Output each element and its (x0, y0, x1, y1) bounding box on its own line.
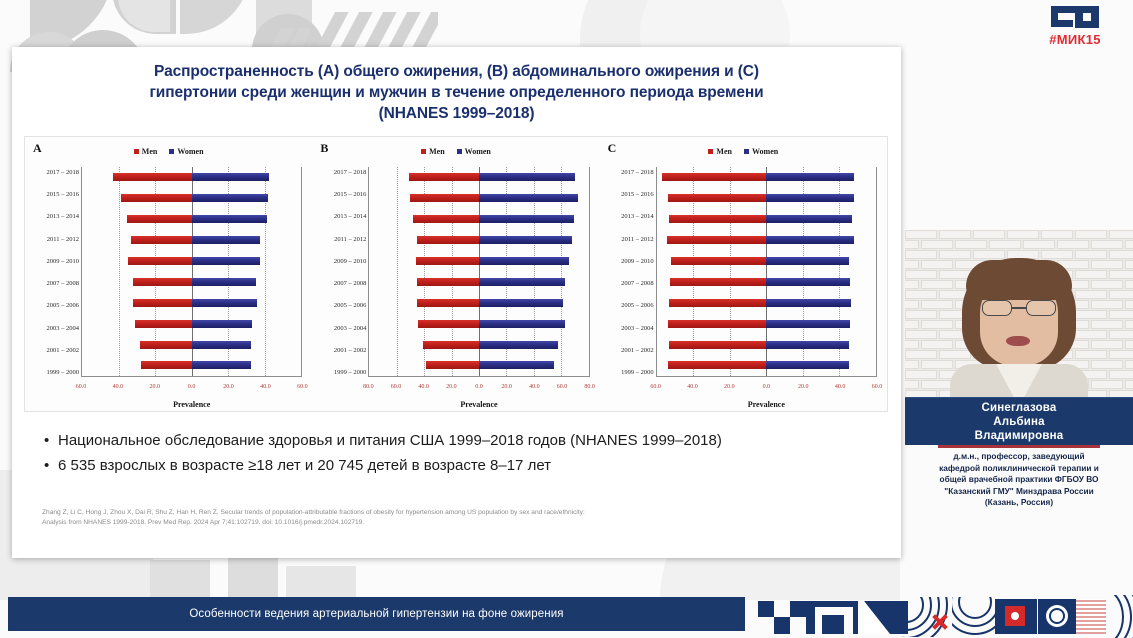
bar-women (192, 320, 252, 328)
category-label: 1999 – 2000 (314, 369, 366, 377)
bar-women (479, 257, 569, 265)
table-row (657, 256, 876, 266)
legend-label-women: Women (752, 147, 778, 156)
bar-men (662, 173, 766, 181)
conference-logo: #МИК15 (1029, 4, 1121, 50)
x-tick-label: 0.0 (188, 384, 196, 390)
bar-men (133, 278, 191, 286)
bar-men (418, 320, 479, 328)
table-row (369, 172, 588, 182)
mik-logo-mark (1049, 4, 1101, 30)
brick (905, 290, 937, 299)
brick (1041, 230, 1073, 239)
brick (905, 370, 937, 379)
brick (905, 300, 919, 309)
x-tick-label: 20.0 (501, 384, 512, 390)
x-tick-label: 60.0 (557, 384, 568, 390)
table-row (657, 214, 876, 224)
speaker-figure (944, 248, 1094, 398)
bar-men (671, 257, 766, 265)
table-row (82, 172, 301, 182)
chart-panel-c: C Men Women 2017 – 20182015 – 20162013 –… (600, 137, 887, 411)
x-tick-label: 40.0 (260, 384, 271, 390)
slide-title-line-2: гипертонии среди женщин и мужчин в течен… (50, 82, 863, 103)
brick (905, 280, 919, 289)
x-tick-label: 20.0 (798, 384, 809, 390)
table-row (369, 256, 588, 266)
bar-women (192, 299, 257, 307)
legend-swatch-men (708, 149, 713, 154)
x-tick-label: 60.0 (872, 384, 883, 390)
table-row (82, 193, 301, 203)
category-label: 2017 – 2018 (602, 169, 654, 177)
brick (1109, 290, 1133, 299)
category-label: 2011 – 2012 (602, 236, 654, 244)
category-label: 2017 – 2018 (314, 169, 366, 177)
brick (1091, 340, 1123, 349)
x-tick-label: 40.0 (529, 384, 540, 390)
bar-men (669, 215, 766, 223)
table-row (82, 277, 301, 287)
bar-women (766, 361, 849, 369)
x-tick-label: 60.0 (650, 384, 661, 390)
brick (905, 330, 937, 339)
table-row (369, 235, 588, 245)
bar-women (192, 341, 251, 349)
credentials-line-3: общей врачебной практики ФГБОУ ВО (913, 474, 1125, 486)
figure-prevalence-charts: A Men Women 2017 – 20182015 – 20162013 –… (24, 136, 888, 412)
bar-men (140, 341, 192, 349)
table-row (369, 214, 588, 224)
chart-c-xticks: 60.040.020.00.020.040.060.0 (656, 384, 877, 394)
bar-women (766, 299, 851, 307)
bar-women (766, 236, 854, 244)
bar-men (669, 299, 767, 307)
bar-men (141, 361, 191, 369)
x-tick-label: 20.0 (150, 384, 161, 390)
legend-label-men: Men (429, 147, 445, 156)
table-row (82, 235, 301, 245)
legend-swatch-men (421, 149, 426, 154)
table-row (657, 277, 876, 287)
bar-women (766, 257, 849, 265)
brick (1109, 350, 1133, 359)
bar-women (479, 341, 558, 349)
bar-men (128, 257, 192, 265)
category-label: 2011 – 2012 (314, 236, 366, 244)
brick (1091, 240, 1123, 249)
category-label: 2003 – 2004 (314, 325, 366, 333)
chart-panel-a: A Men Women 2017 – 20182015 – 20162013 –… (25, 137, 312, 411)
bar-women (479, 215, 574, 223)
bar-men (668, 194, 767, 202)
brick (1075, 230, 1107, 239)
brick (905, 350, 937, 359)
category-label: 2013 – 2014 (27, 213, 79, 221)
brick (1091, 360, 1123, 369)
bottom-banner: Особенности ведения артериальной гиперте… (8, 597, 745, 631)
credentials-line-5: (Казань, Россия) (913, 497, 1125, 509)
bar-women (479, 194, 578, 202)
category-label: 2011 – 2012 (27, 236, 79, 244)
category-label: 2009 – 2010 (602, 258, 654, 266)
bar-women (766, 173, 854, 181)
slide-citation: Zhang Z, Li C, Hong J, Zhou X, Dai R, Sh… (42, 508, 877, 528)
brick (1007, 230, 1039, 239)
brick (1125, 300, 1133, 309)
bar-women (479, 173, 575, 181)
speaker-name-line-2: Альбина (993, 415, 1045, 429)
bar-women (766, 194, 854, 202)
table-row (657, 172, 876, 182)
banner-text: Особенности ведения артериальной гиперте… (189, 608, 563, 620)
table-row (82, 360, 301, 370)
category-label: 2009 – 2010 (314, 258, 366, 266)
category-label: 2001 – 2002 (314, 347, 366, 355)
brick (1109, 310, 1133, 319)
chart-c-xlabel: Prevalence (656, 400, 877, 409)
legend-swatch-women (457, 149, 462, 154)
category-label: 2005 – 2006 (314, 302, 366, 310)
bar-women (479, 361, 554, 369)
speaker-name-line-3: Владимировна (975, 429, 1064, 443)
bar-men (409, 173, 479, 181)
x-tick-label: 40.0 (113, 384, 124, 390)
bar-men (417, 278, 479, 286)
x-tick-label: 0.0 (763, 384, 771, 390)
brick (939, 230, 971, 239)
table-row (369, 193, 588, 203)
x-tick-label: 40.0 (687, 384, 698, 390)
bar-women (192, 278, 256, 286)
speaker-nameplate: Синеглазова Альбина Владимировна (905, 397, 1133, 445)
category-label: 2009 – 2010 (27, 258, 79, 266)
bar-men (113, 173, 192, 181)
bar-women (479, 299, 563, 307)
x-tick-label: 80.0 (584, 384, 595, 390)
legend-label-men: Men (716, 147, 732, 156)
brick (905, 230, 937, 239)
bar-women (479, 320, 565, 328)
category-label: 2001 – 2002 (602, 347, 654, 355)
bar-men (416, 257, 479, 265)
citation-line-2: Analysis from NHANES 1999-2018. Prev Med… (42, 518, 877, 528)
table-row (657, 298, 876, 308)
chart-b-axes (368, 167, 589, 377)
bar-men (135, 320, 192, 328)
arc-pattern-3 (1104, 595, 1133, 638)
chart-a-axes (81, 167, 302, 377)
bar-women (192, 236, 261, 244)
table-row (369, 277, 588, 287)
category-label: 2001 – 2002 (27, 347, 79, 355)
legend-swatch-men (134, 149, 139, 154)
category-label: 2007 – 2008 (27, 280, 79, 288)
bar-women (192, 194, 268, 202)
chart-b-bars (369, 167, 588, 376)
bar-women (192, 173, 270, 181)
brick (1125, 260, 1133, 269)
credentials-line-2: кафедрой поликлинической терапии и (913, 463, 1125, 475)
table-row (82, 256, 301, 266)
speaker-name-line-1: Синеглазова (981, 401, 1056, 415)
table-row (657, 360, 876, 370)
category-label: 2003 – 2004 (602, 325, 654, 333)
brick (1109, 230, 1133, 239)
screen: #МИК15 Распространенность (А) общего ожи… (0, 0, 1133, 638)
table-row (657, 340, 876, 350)
chart-a-xticks: 60.040.020.00.020.040.060.0 (81, 384, 302, 394)
table-row (82, 298, 301, 308)
chart-legend-c: Men Women (600, 147, 887, 156)
bar-women (766, 320, 850, 328)
brick (905, 270, 937, 279)
brick (973, 230, 1005, 239)
x-tick-label: 20.0 (724, 384, 735, 390)
x-tick-label: 0.0 (475, 384, 483, 390)
brick (905, 340, 919, 349)
chart-c-category-labels: 2017 – 20182015 – 20162013 – 20142011 – … (602, 169, 654, 377)
legend-label-women: Women (465, 147, 491, 156)
brick (905, 380, 919, 389)
x-tick-label: 40.0 (835, 384, 846, 390)
brick (1091, 260, 1123, 269)
list-item: 6 535 взрослых в возрасте ≥18 лет и 20 7… (42, 453, 877, 478)
table-row (657, 319, 876, 329)
bar-women (479, 278, 565, 286)
chart-legend-b: Men Women (312, 147, 599, 156)
brick (905, 250, 937, 259)
brick (1125, 320, 1133, 329)
category-label: 2005 – 2006 (27, 302, 79, 310)
bar-men (410, 194, 479, 202)
brick (1091, 300, 1123, 309)
bar-men (121, 194, 191, 202)
category-label: 2007 – 2008 (314, 280, 366, 288)
table-row (82, 340, 301, 350)
presentation-slide: Распространенность (А) общего ожирения, … (12, 47, 901, 558)
category-label: 2015 – 2016 (602, 191, 654, 199)
bar-women (766, 278, 850, 286)
citation-line-1: Zhang Z, Li C, Hong J, Zhou X, Dai R, Sh… (42, 508, 877, 518)
chart-legend-a: Men Women (25, 147, 312, 156)
x-tick-label: 40.0 (418, 384, 429, 390)
bar-men (417, 236, 479, 244)
brick (1109, 250, 1133, 259)
nameplate-accent-bar (938, 445, 1100, 448)
bar-men (133, 299, 191, 307)
bar-men (127, 215, 192, 223)
brick (905, 260, 919, 269)
mouth (1006, 336, 1030, 346)
table-row (369, 298, 588, 308)
brick (905, 240, 919, 249)
bar-women (192, 361, 251, 369)
brick (1091, 380, 1123, 389)
bar-men (670, 278, 766, 286)
legend-swatch-women (169, 149, 174, 154)
brick (1125, 360, 1133, 369)
bar-women (479, 236, 572, 244)
slide-title: Распространенность (А) общего ожирения, … (12, 47, 901, 130)
table-row (657, 235, 876, 245)
bar-men (417, 299, 479, 307)
x-tick-label: 60.0 (391, 384, 402, 390)
bar-men (667, 236, 767, 244)
x-tick-label: 20.0 (446, 384, 457, 390)
bar-men (423, 341, 479, 349)
credentials-line-1: д.м.н., профессор, заведующий (913, 451, 1125, 463)
legend-swatch-women (744, 149, 749, 154)
credentials-line-4: "Казанский ГМУ" Минздрава России (913, 486, 1125, 498)
speaker-credentials: д.м.н., профессор, заведующий кафедрой п… (905, 451, 1133, 509)
bar-women (192, 257, 261, 265)
chart-a-xlabel: Prevalence (81, 400, 302, 409)
category-label: 2017 – 2018 (27, 169, 79, 177)
table-row (82, 214, 301, 224)
slide-title-line-1: Распространенность (А) общего ожирения, … (50, 61, 863, 82)
slide-title-line-3: (NHANES 1999–2018) (50, 103, 863, 124)
bar-men (131, 236, 191, 244)
chart-b-category-labels: 2017 – 20182015 – 20162013 – 20142011 – … (314, 169, 366, 377)
category-label: 2015 – 2016 (314, 191, 366, 199)
chart-b-xlabel: Prevalence (368, 400, 589, 409)
brick (905, 360, 919, 369)
brick (1125, 380, 1133, 389)
bar-men (426, 361, 479, 369)
chart-panel-b: B Men Women 2017 – 20182015 – 20162013 –… (312, 137, 599, 411)
table-row (369, 340, 588, 350)
x-tick-label: 60.0 (76, 384, 87, 390)
brick (1125, 240, 1133, 249)
brick (1109, 270, 1133, 279)
chart-c-bars (657, 167, 876, 376)
brick (905, 320, 919, 329)
chart-c-axes (656, 167, 877, 377)
bottom-decorative-strip (752, 591, 1133, 638)
category-label: 1999 – 2000 (602, 369, 654, 377)
table-row (369, 319, 588, 329)
list-item: Национальное обследование здоровья и пит… (42, 428, 877, 453)
x-tick-label: 60.0 (297, 384, 308, 390)
table-row (369, 360, 588, 370)
brick (1109, 370, 1133, 379)
brick (1125, 340, 1133, 349)
brick (1109, 330, 1133, 339)
slide-bullet-list: Национальное обследование здоровья и пит… (42, 428, 877, 478)
brick (1091, 320, 1123, 329)
logo-hashtag: #МИК15 (1029, 32, 1121, 47)
legend-label-women: Women (177, 147, 203, 156)
x-tick-label: 20.0 (223, 384, 234, 390)
fringe (966, 260, 1072, 300)
arc-pattern-2 (952, 597, 996, 637)
bar-women (192, 215, 267, 223)
category-label: 2007 – 2008 (602, 280, 654, 288)
glasses-icon (982, 300, 1056, 316)
table-row (657, 193, 876, 203)
chart-b-xticks: 80.060.040.020.00.020.040.060.080.0 (368, 384, 589, 394)
category-label: 2005 – 2006 (602, 302, 654, 310)
bar-women (766, 341, 848, 349)
brick (905, 310, 937, 319)
category-label: 2015 – 2016 (27, 191, 79, 199)
chart-a-category-labels: 2017 – 20182015 – 20162013 – 20142011 – … (27, 169, 79, 377)
bar-women (766, 215, 852, 223)
brick (1091, 280, 1123, 289)
category-label: 2013 – 2014 (314, 213, 366, 221)
brick (1125, 280, 1133, 289)
bar-men (668, 320, 767, 328)
speaker-video-feed[interactable] (905, 230, 1133, 398)
legend-label-men: Men (142, 147, 158, 156)
x-tick-label: 80.0 (363, 384, 374, 390)
category-label: 2003 – 2004 (27, 325, 79, 333)
bar-men (668, 361, 767, 369)
table-row (82, 319, 301, 329)
chart-a-bars (82, 167, 301, 376)
category-label: 2013 – 2014 (602, 213, 654, 221)
category-label: 1999 – 2000 (27, 369, 79, 377)
bar-men (669, 341, 766, 349)
bar-men (413, 215, 479, 223)
